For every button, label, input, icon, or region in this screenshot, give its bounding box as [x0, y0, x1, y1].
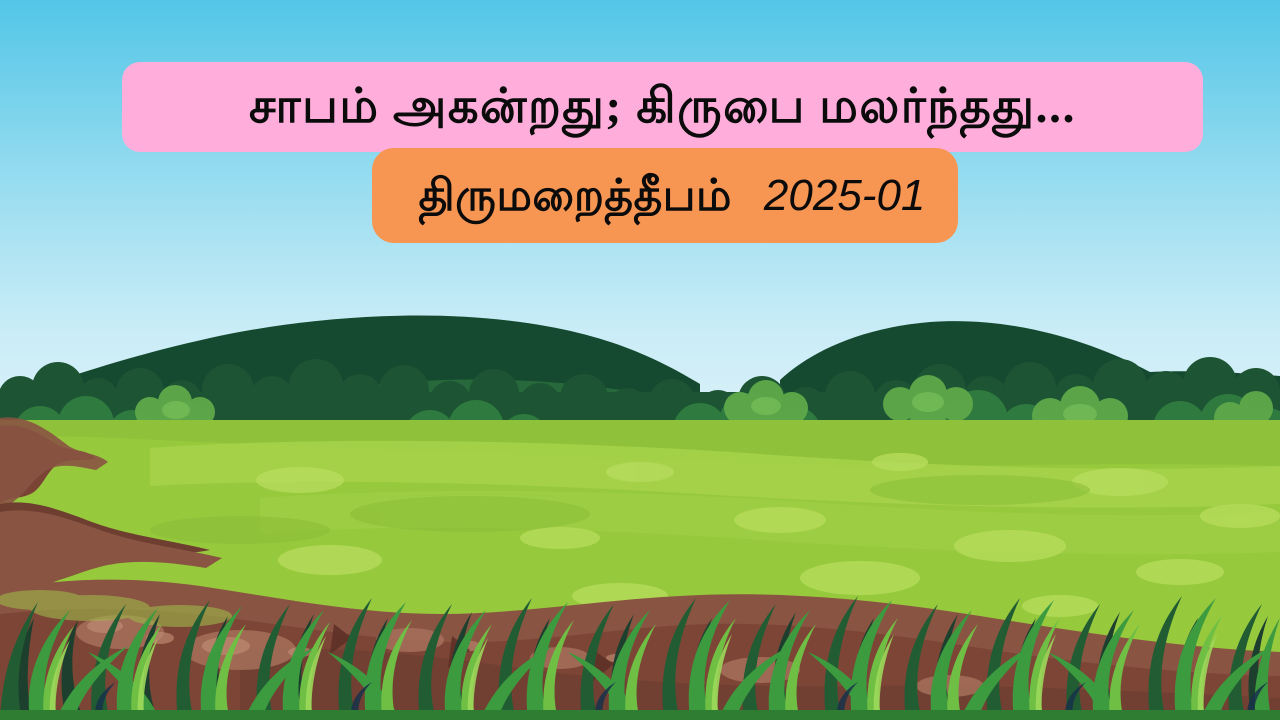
issue-number: 2025-01: [764, 174, 925, 218]
publication-name: திருமறைத்தீபம்: [405, 174, 746, 218]
subtitle-banner: திருமறைத்தீபம் 2025-01: [372, 148, 958, 243]
title-banner: சாபம் அகன்றது; கிருபை மலர்ந்தது...: [122, 62, 1203, 152]
title-text: சாபம் அகன்றது; கிருபை மலர்ந்தது...: [233, 83, 1092, 131]
poster-canvas: சாபம் அகன்றது; கிருபை மலர்ந்தது... திரும…: [0, 0, 1280, 720]
grass-base-strip: [0, 710, 1280, 720]
foreground-grass: [0, 570, 1280, 720]
